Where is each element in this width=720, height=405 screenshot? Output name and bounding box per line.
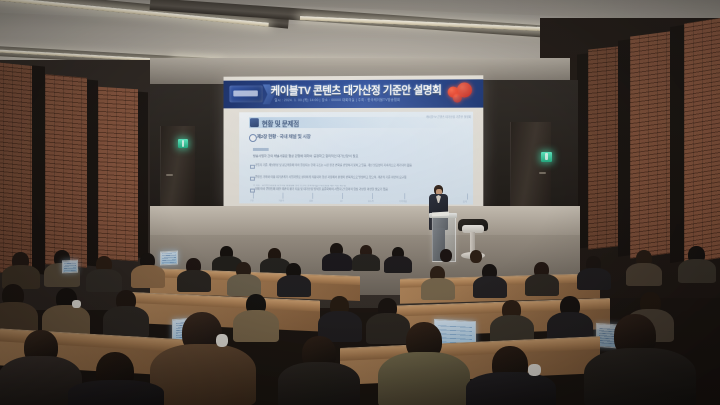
attendee-laptop (62, 260, 78, 274)
slide-header-title: 현황 및 문제점 (262, 118, 299, 128)
brick-column (45, 74, 87, 268)
stage-front-face (150, 206, 580, 238)
slide-bullet-text: 콘텐츠 가치와 이용 대가관계가 사업자별로 상이하게 적용되어 협상 과정에서… (255, 176, 407, 179)
emergency-exit-sign-left (178, 139, 188, 148)
slide-bottom-label: 종편 (309, 200, 313, 203)
event-banner: 케이블TV 콘텐츠 대가산정 기준안 설명회 일시 : 2024. 1. 00.… (224, 79, 484, 108)
banner-subtitle: 일시 : 2024. 1. 00.(목) 14:00 | 장소 : 00000 … (275, 97, 445, 103)
brick-column (630, 31, 670, 258)
slide-header-badge-icon (250, 118, 259, 127)
slide-bottom-label: 합계 (463, 201, 467, 204)
red-swirl-logo-icon (448, 82, 474, 104)
slide-bullet: 가입자 기준, 채널편성 및 광고매출에 따라 결정되는 현재 구조는 시장 환… (255, 164, 461, 168)
slide-lead-text: 방송사업자 간의 채널사용료 협상 관행에 대하여 '공정하고 합리적인 대가산… (253, 154, 461, 159)
slide-bottom-label: 구분 (250, 200, 254, 203)
slide-bottom-label: 홈쇼핑 (368, 200, 374, 203)
slide-bottom-label: PP (340, 201, 343, 203)
slide-tag-bar (253, 148, 269, 151)
projection-screen: 케이블TV 콘텐츠 대가산정 기준안 설명회 일시 : 2024. 1. 00.… (224, 75, 484, 208)
laptop-screen-content (64, 262, 76, 271)
association-emblem-icon (229, 85, 262, 102)
brick-column (98, 87, 138, 262)
laptop-screen-content (162, 253, 175, 263)
brick-column (588, 46, 618, 249)
seminar-photograph: 케이블TV 콘텐츠 대가산정 기준안 설명회 일시 : 2024. 1. 00.… (0, 0, 720, 405)
brick-column (0, 62, 32, 276)
slide-bullet-text: 가입자 기준, 채널편성 및 광고매출에 따라 결정되는 현재 구조는 시장 환… (255, 164, 412, 167)
face-mask (72, 300, 81, 308)
door-handle[interactable] (539, 172, 546, 174)
slide-bottom-label: 지상파 (279, 200, 285, 203)
slide-bottom-label: 지역채널 (399, 200, 407, 203)
face-mask (216, 334, 228, 347)
slide-bullet: 콘텐츠 가치와 이용 대가관계가 사업자별로 상이하게 적용되어 협상 과정에서… (255, 176, 461, 180)
emergency-exit-sign-right (541, 152, 552, 162)
door-handle[interactable] (166, 174, 173, 176)
attendee-laptop (160, 251, 178, 266)
face-mask (528, 364, 541, 376)
slide-header-note: 케이블TV 콘텐츠 대가산정 기준안 설명회 (426, 115, 471, 119)
brick-column (684, 16, 720, 263)
slide-section-title: 제2장 현황 · 국내 채널 및 시장 (257, 134, 311, 140)
slide-section-bullet-icon (249, 134, 257, 142)
bullet-square-icon (250, 164, 255, 169)
bullet-square-icon (250, 176, 255, 181)
